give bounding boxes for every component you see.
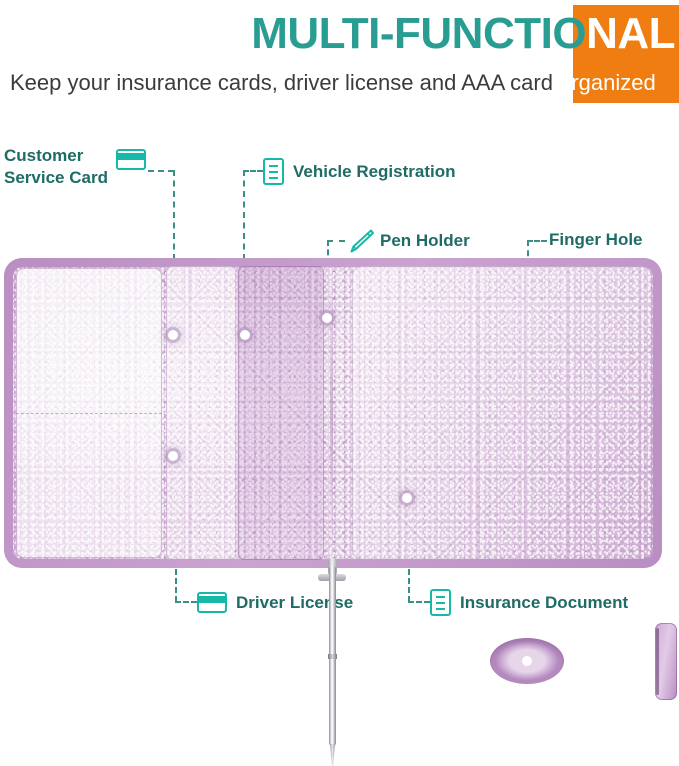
document-icon xyxy=(430,589,451,616)
rivet xyxy=(402,493,412,503)
rivet xyxy=(168,330,178,340)
callout-customer-service-card[interactable]: Customer Service Card xyxy=(4,145,146,189)
page-subtitle-highlight: organized xyxy=(559,70,656,95)
callout-label-vehicle-registration: Vehicle Registration xyxy=(293,162,456,182)
wallet-spine xyxy=(330,262,333,564)
leader-line-customer-service-card-horizontal xyxy=(148,170,174,172)
page-subtitle: Keep your insurance cards, driver licens… xyxy=(10,68,679,98)
leader-line-customer-service-card-vertical xyxy=(173,170,175,260)
callout-vehicle-registration[interactable]: Vehicle Registration xyxy=(263,158,456,185)
page-title-white-part: NAL xyxy=(586,9,675,58)
card-icon xyxy=(116,149,146,170)
rivet xyxy=(322,313,332,323)
leader-line-pen-holder-horizontal xyxy=(327,240,345,242)
pen xyxy=(326,558,338,766)
finger-hole xyxy=(490,638,564,684)
callout-finger-hole[interactable]: Finger Hole xyxy=(549,230,643,250)
pen-icon xyxy=(345,228,375,254)
leader-line-finger-hole-horizontal xyxy=(527,240,547,242)
callout-label-customer-service-card-line2: Service Card xyxy=(4,167,108,189)
page-subtitle-main: Keep your insurance cards, driver licens… xyxy=(10,70,559,95)
card-icon xyxy=(197,592,227,613)
leader-line-vehicle-registration-horizontal xyxy=(243,170,263,172)
rivet xyxy=(240,330,250,340)
pen-band xyxy=(328,654,337,659)
callout-label-insurance-document: Insurance Document xyxy=(460,593,628,613)
rivet xyxy=(168,451,178,461)
leader-line-driver-license-horizontal xyxy=(175,601,197,603)
card-pocket-divider xyxy=(16,413,162,414)
header-banner: MULTI-FUNCTIONAL Keep your insurance car… xyxy=(0,0,679,112)
callout-label-pen-holder: Pen Holder xyxy=(380,231,470,251)
callout-label-customer-service-card-line1: Customer xyxy=(4,145,108,167)
page-title: MULTI-FUNCTIONAL xyxy=(0,8,679,60)
callout-insurance-document[interactable]: Insurance Document xyxy=(430,589,628,616)
document-slot-panel xyxy=(238,266,324,560)
callout-pen-holder[interactable]: Pen Holder xyxy=(345,228,470,254)
leader-line-insurance-document-horizontal xyxy=(408,601,430,603)
document-icon xyxy=(263,158,284,185)
pen-tip xyxy=(330,744,335,766)
product-image-glitter-organizer-wallet xyxy=(0,258,679,568)
page-title-teal-part: MULTI-FUNCTIO xyxy=(251,9,586,58)
right-cover-panel xyxy=(352,266,652,560)
strap-seam xyxy=(656,628,659,695)
inner-flap-panel xyxy=(166,266,236,560)
callout-label-finger-hole: Finger Hole xyxy=(549,230,643,250)
leader-line-vehicle-registration-vertical xyxy=(243,170,245,260)
